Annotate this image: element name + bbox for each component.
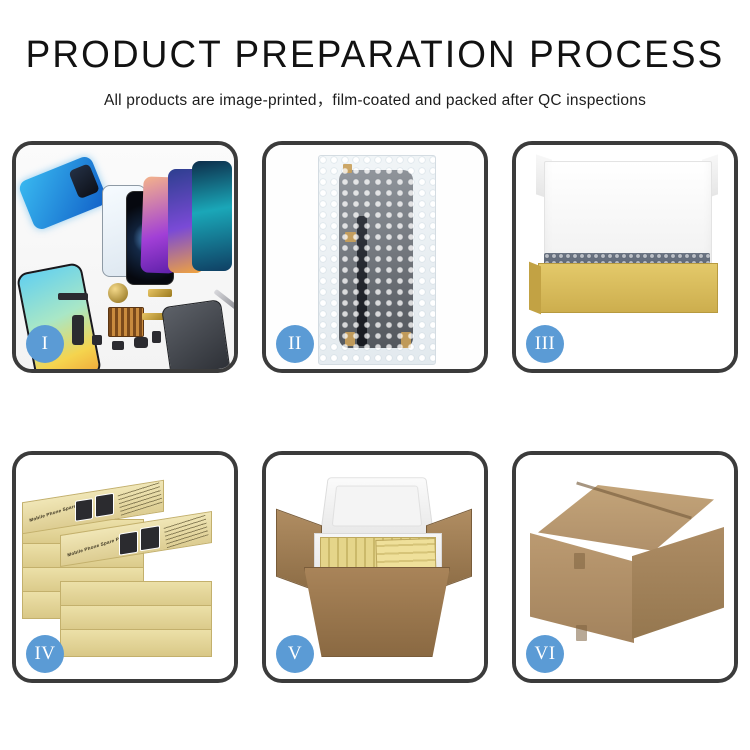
small-chip-icon bbox=[92, 335, 102, 345]
foam-lid-icon bbox=[320, 477, 435, 537]
step-badge-3: III bbox=[526, 325, 564, 363]
step-badge-5: V bbox=[276, 635, 314, 673]
tape-patch-2-icon bbox=[576, 625, 587, 641]
step-badge-1: I bbox=[26, 325, 64, 363]
box-artwork-icon bbox=[75, 498, 93, 522]
bubble-texture bbox=[319, 156, 435, 364]
stacked-box bbox=[60, 629, 212, 657]
box-artwork-2-icon bbox=[140, 525, 160, 551]
bubble-wrap-bag-icon bbox=[318, 155, 436, 365]
step-panel-2: II bbox=[262, 141, 488, 373]
step-panel-1: I bbox=[12, 141, 238, 373]
teal-phone-icon bbox=[192, 161, 232, 271]
small-chip-4-icon bbox=[152, 331, 161, 343]
small-chip-3-icon bbox=[134, 337, 148, 348]
step-panel-6: VI bbox=[512, 451, 738, 683]
box-artwork-icon bbox=[119, 531, 138, 556]
step-badge-2: II bbox=[276, 325, 314, 363]
step-panel-5: V bbox=[262, 451, 488, 683]
tape-patch-1-icon bbox=[574, 553, 585, 569]
small-chip-2-icon bbox=[112, 341, 124, 350]
box-spec-lines bbox=[118, 481, 163, 515]
flex-cable-icon bbox=[148, 289, 172, 297]
page-title: PRODUCT PREPARATION PROCESS bbox=[11, 36, 739, 76]
page-header: PRODUCT PREPARATION PROCESS All products… bbox=[0, 0, 750, 110]
camera-module-icon bbox=[72, 315, 84, 345]
phone-backplate-icon bbox=[161, 299, 231, 369]
shipping-carton-icon bbox=[304, 567, 450, 657]
box-spec-lines bbox=[164, 514, 209, 548]
page-subtitle: All products are image-printed，film-coat… bbox=[0, 88, 750, 110]
step-panel-4: Mobile Phone Spare Parts Mobile Phone Sp… bbox=[12, 451, 238, 683]
process-grid: I II III bbox=[12, 141, 738, 683]
kraft-box-base-icon bbox=[538, 263, 718, 313]
step-panel-3: III bbox=[512, 141, 738, 373]
logic-board-icon bbox=[108, 307, 144, 337]
step-badge-4: IV bbox=[26, 635, 64, 673]
step-badge-6: VI bbox=[526, 635, 564, 673]
coil-part-icon bbox=[108, 283, 128, 303]
speaker-part-icon bbox=[58, 293, 88, 300]
blue-phone-back-icon bbox=[17, 154, 109, 231]
box-artwork-2-icon bbox=[95, 493, 114, 518]
